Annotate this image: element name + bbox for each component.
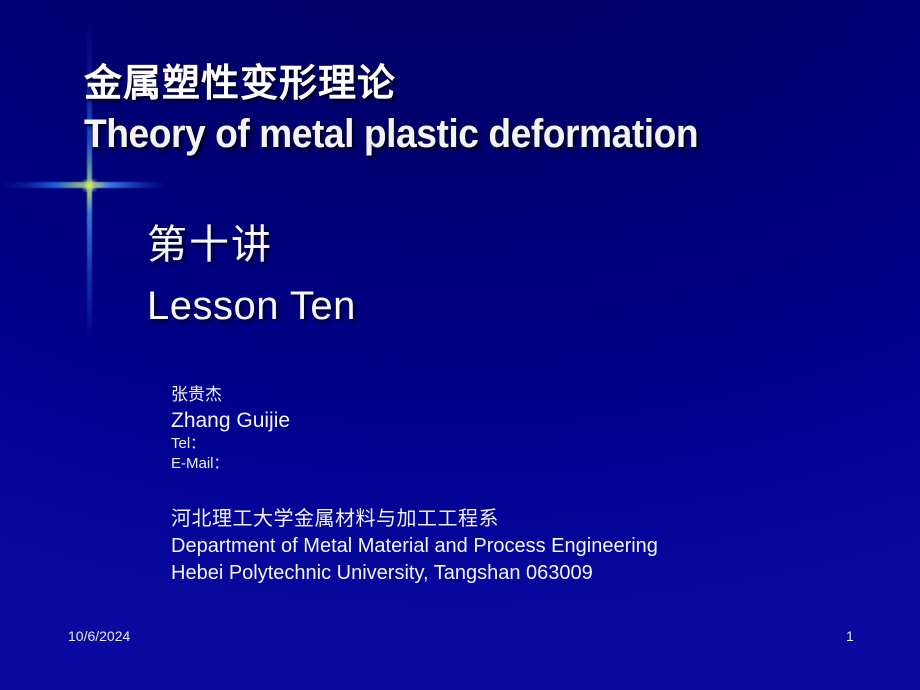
- department-info: 河北理工大学金属材料与加工工程系 Department of Metal Mat…: [171, 505, 658, 587]
- footer-page-number: 1: [846, 628, 854, 644]
- email-label: E-Mail：: [171, 454, 290, 474]
- presentation-slide: 金属塑性变形理论 Theory of metal plastic deforma…: [0, 0, 920, 690]
- lesson-english: Lesson Ten: [147, 278, 356, 334]
- department-english-line2: Hebei Polytechnic University, Tangshan 0…: [171, 560, 658, 587]
- department-chinese: 河北理工大学金属材料与加工工程系: [171, 505, 658, 533]
- author-name-english: Zhang Guijie: [171, 407, 290, 434]
- author-info: 张贵杰 Zhang Guijie Tel： E-Mail：: [171, 382, 290, 474]
- author-name-chinese: 张贵杰: [171, 382, 290, 407]
- footer-date: 10/6/2024: [68, 628, 130, 644]
- slide-title: 金属塑性变形理论 Theory of metal plastic deforma…: [84, 60, 884, 158]
- title-chinese: 金属塑性变形理论: [84, 60, 884, 108]
- title-english: Theory of metal plastic deformation: [84, 110, 828, 158]
- department-english-line1: Department of Metal Material and Process…: [171, 533, 658, 560]
- lesson-heading: 第十讲 Lesson Ten: [147, 218, 356, 334]
- cross-accent-icon: [82, 179, 97, 192]
- lesson-chinese: 第十讲: [147, 218, 356, 272]
- tel-label: Tel：: [171, 434, 290, 454]
